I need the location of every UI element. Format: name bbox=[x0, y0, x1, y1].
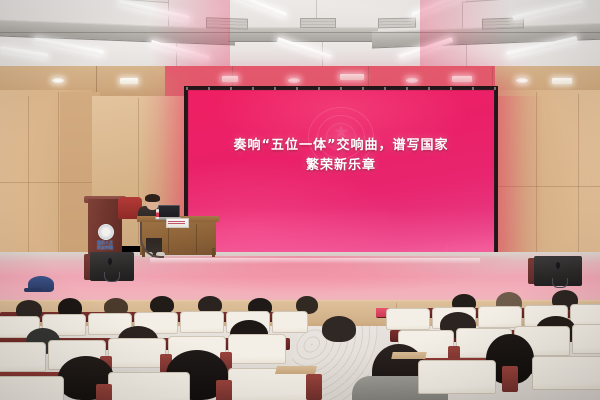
ceiling-vent bbox=[300, 18, 336, 28]
seat-armrest bbox=[502, 366, 518, 392]
auditorium-photo: ★ 奏响“五位一体”交响曲，谱写国家 繁荣新乐章 重庆人文 科技学院 bbox=[0, 0, 600, 400]
recessed-downlight bbox=[120, 78, 138, 84]
duct-seam bbox=[0, 32, 600, 33]
ceiling-vent bbox=[378, 18, 416, 29]
auditorium-seat[interactable] bbox=[532, 356, 600, 390]
desk-panel-seam bbox=[168, 224, 169, 253]
auditorium-seat[interactable] bbox=[418, 360, 496, 394]
speaker-cable bbox=[552, 278, 568, 288]
screen-glow-wall-right bbox=[496, 96, 544, 252]
wall-seam bbox=[28, 96, 29, 274]
auditorium-seat[interactable] bbox=[108, 338, 166, 368]
auditorium-seat[interactable] bbox=[108, 372, 190, 400]
seat-writing-tablet bbox=[391, 352, 426, 359]
seat-armrest bbox=[216, 380, 232, 400]
placard-text-line bbox=[168, 223, 185, 224]
auditorium-seat[interactable] bbox=[228, 334, 286, 364]
led-screen[interactable]: ★ 奏响“五位一体”交响曲，谱写国家 繁荣新乐章 bbox=[188, 90, 494, 254]
screen-frame-bolts bbox=[186, 87, 496, 90]
recessed-downlight bbox=[452, 76, 472, 82]
podium-signage: 重庆人文 科技学院 bbox=[90, 240, 120, 251]
hvac-duct bbox=[228, 27, 378, 42]
auditorium-seat[interactable] bbox=[0, 376, 64, 400]
screen-headline: 奏响“五位一体”交响曲，谱写国家 繁荣新乐章 bbox=[188, 136, 494, 176]
seat-armrest bbox=[96, 384, 112, 400]
audience-head bbox=[322, 316, 356, 342]
seat-writing-tablet bbox=[275, 366, 317, 374]
podium-sign-line2: 科技学院 bbox=[90, 245, 120, 250]
screen-headline-line1: 奏响“五位一体”交响曲，谱写国家 bbox=[233, 138, 448, 153]
auditorium-seat[interactable] bbox=[180, 311, 224, 333]
recessed-downlight bbox=[222, 76, 238, 82]
cap-brim-icon bbox=[24, 288, 42, 292]
recessed-downlight bbox=[516, 78, 528, 83]
auditorium-seat[interactable] bbox=[272, 311, 308, 333]
stage-specular-highlight bbox=[150, 258, 480, 264]
auditorium-seat[interactable] bbox=[386, 308, 430, 330]
auditorium-seat[interactable] bbox=[478, 306, 522, 328]
screen-light-spill-ceiling bbox=[150, 0, 230, 70]
recessed-downlight bbox=[552, 78, 572, 84]
presenter-hair bbox=[145, 194, 160, 202]
desk-leg bbox=[212, 248, 215, 257]
speaker-port-icon bbox=[108, 258, 112, 265]
wall-seam bbox=[58, 92, 59, 274]
wall-seam bbox=[138, 98, 139, 244]
water-bottle bbox=[156, 209, 159, 219]
screen-headline-line2: 繁荣新乐章 bbox=[188, 156, 494, 176]
placard-text-line bbox=[168, 221, 185, 222]
speaker-port-icon bbox=[556, 262, 560, 269]
recessed-downlight bbox=[288, 78, 300, 83]
auditorium-seat[interactable] bbox=[0, 342, 46, 372]
screen-light-spill-ceiling bbox=[420, 0, 510, 70]
speaker-cable bbox=[104, 272, 120, 282]
auditorium-seat[interactable] bbox=[570, 304, 600, 326]
seat-armrest bbox=[306, 374, 322, 400]
recessed-downlight bbox=[340, 74, 364, 80]
recessed-downlight bbox=[52, 78, 64, 83]
auditorium-seat[interactable] bbox=[572, 324, 600, 354]
desk-panel-seam bbox=[196, 224, 197, 253]
wall-seam bbox=[0, 182, 92, 183]
recessed-downlight bbox=[406, 78, 418, 83]
institution-seal-icon bbox=[98, 224, 114, 240]
